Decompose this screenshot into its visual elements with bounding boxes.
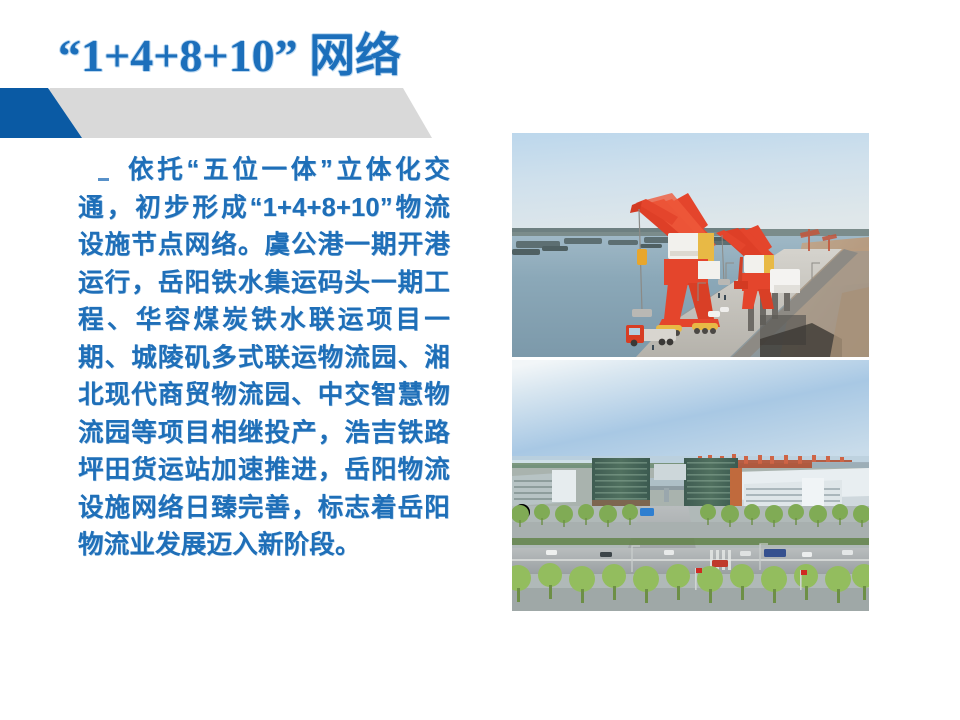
port-cranes-illustration <box>512 133 869 357</box>
dash-artifact <box>98 178 109 181</box>
port-cranes-photo <box>512 133 869 357</box>
page-title: “1+4+8+10” 网络 <box>58 32 478 80</box>
logistics-park-photo <box>512 360 869 611</box>
slide-canvas: “1+4+8+10” 网络 依托“五位一体”立体化交通，初步形成“1+4+8+1… <box>0 0 960 720</box>
photo-reflection <box>512 612 869 658</box>
body-paragraph: 依托“五位一体”立体化交通，初步形成“1+4+8+10”物流设施节点网络。虞公港… <box>78 152 450 565</box>
title-banner <box>0 88 460 138</box>
reflection-fade-mask <box>512 612 869 658</box>
logistics-park-illustration <box>512 360 869 611</box>
